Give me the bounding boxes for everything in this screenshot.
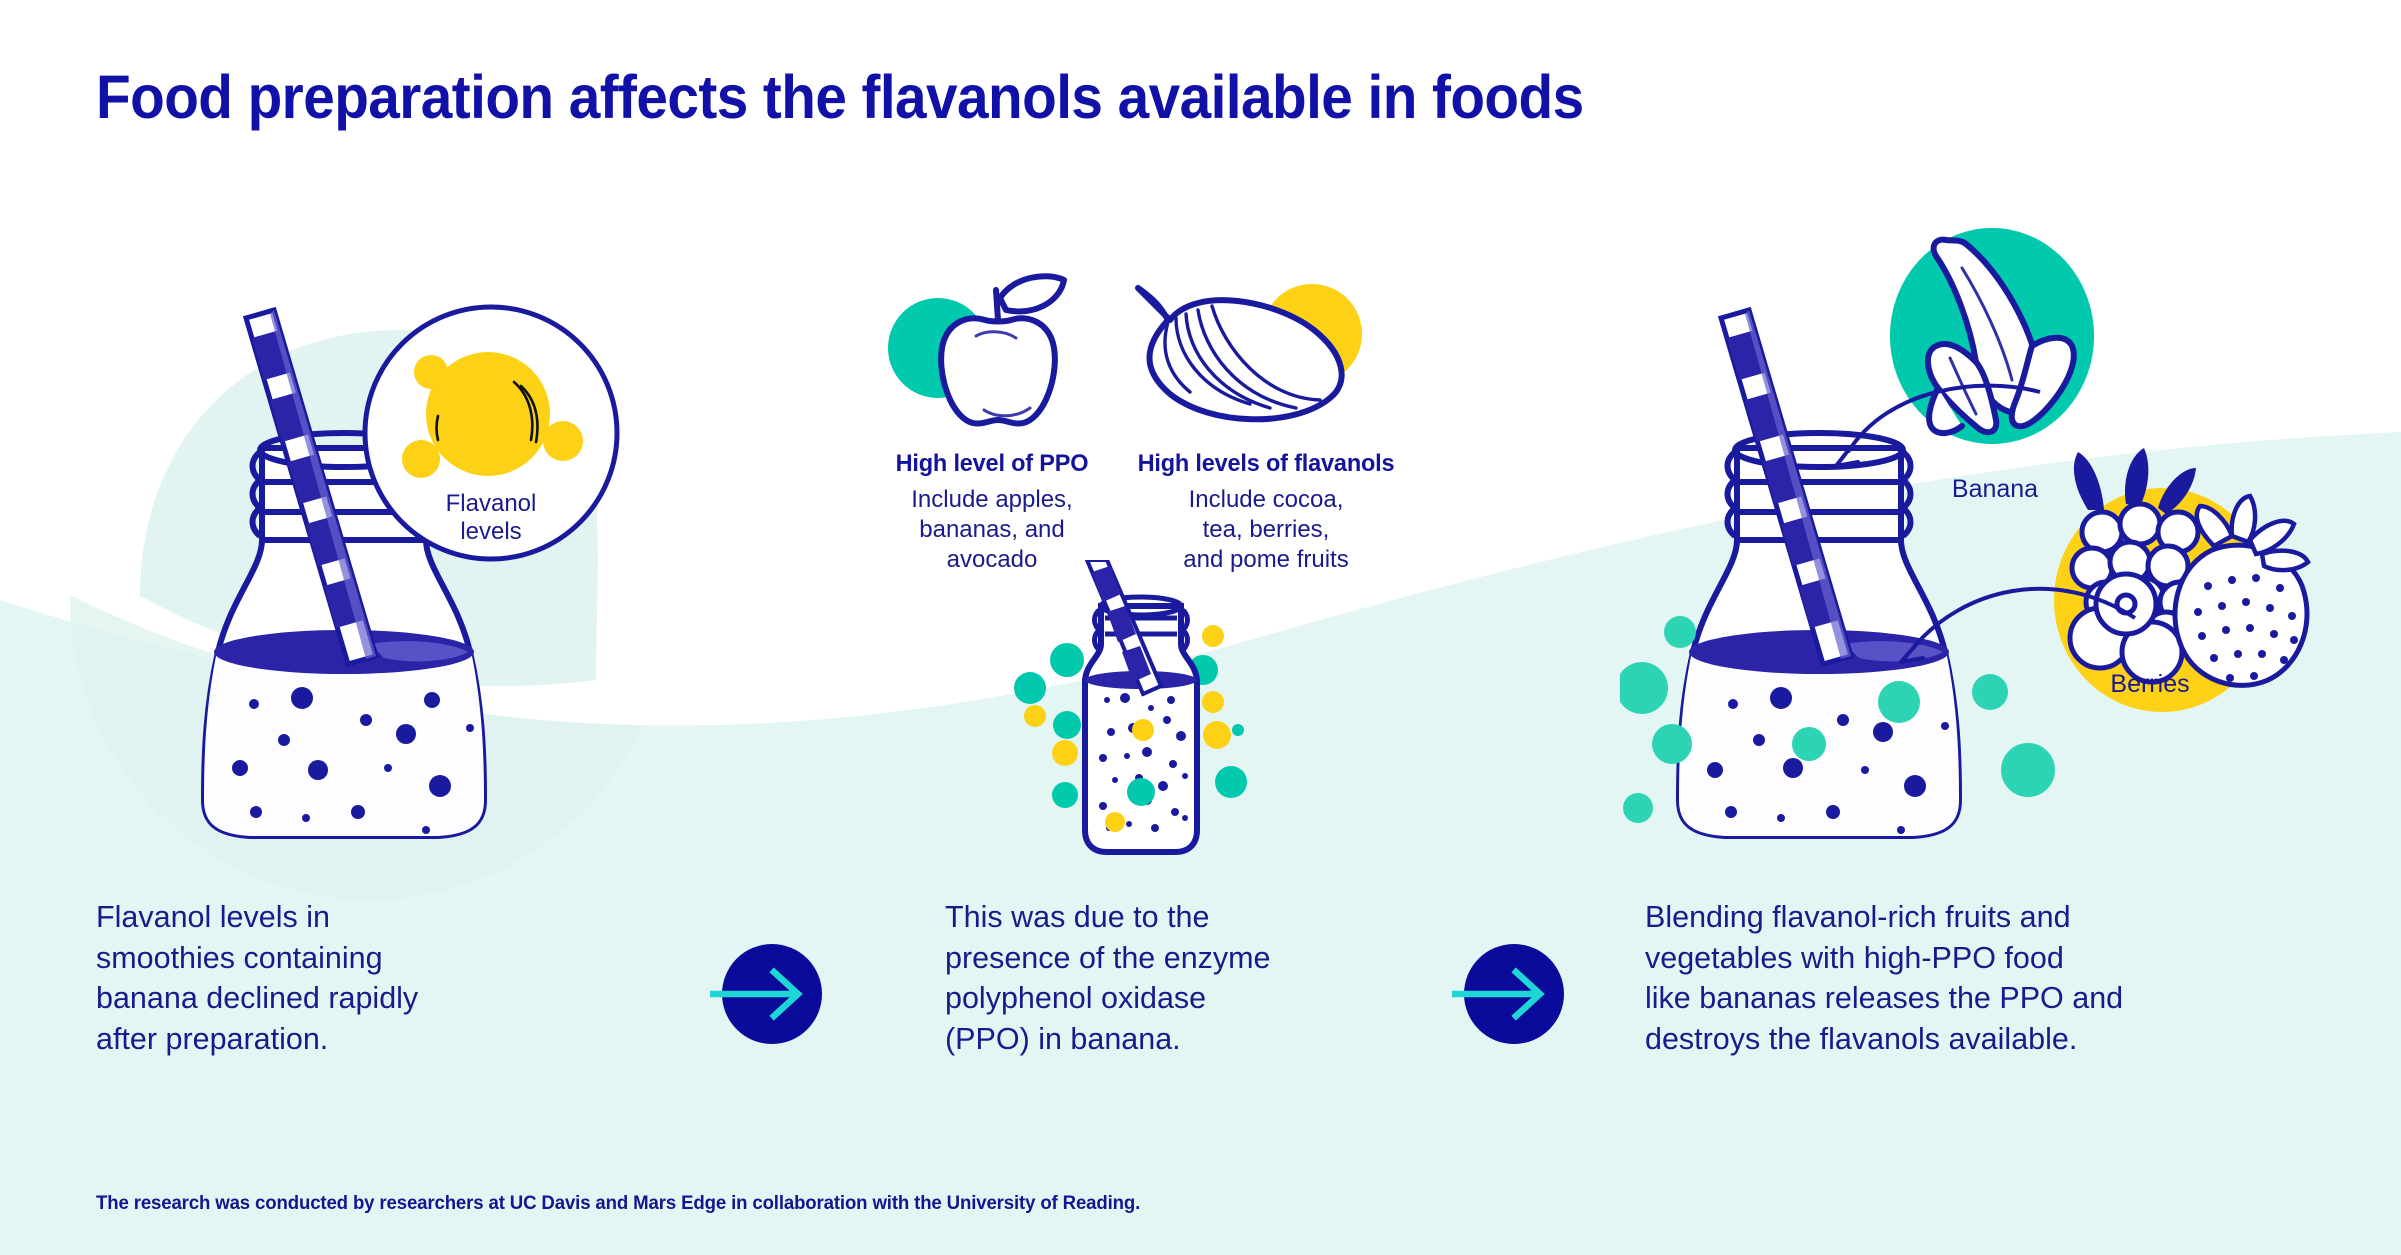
flav-line-1: Include cocoa,: [1116, 485, 1416, 515]
step-1-line-4: after preparation.: [96, 1019, 536, 1060]
step-1-text: Flavanol levels in smoothies containing …: [96, 897, 536, 1060]
icon-block-ppo: High level of PPO Include apples, banana…: [862, 450, 1122, 574]
flavanol-blob-small-1: [414, 355, 448, 389]
apple-icon: [880, 262, 1090, 442]
banana-to-bottle-arrow: [1800, 370, 2060, 500]
berries-to-bottle-arrow: [1855, 570, 2155, 700]
footer-attribution: The research was conducted by researcher…: [96, 1192, 1140, 1215]
arrow-right-icon: [1452, 944, 1576, 1044]
magnifier-flavanol-levels: Flavanol levels: [360, 302, 622, 564]
cocoa-pod-icon: [1124, 262, 1374, 442]
apple-body: [941, 318, 1055, 423]
step-2-line-3: polyphenol oxidase: [945, 978, 1385, 1019]
step-3-line-4: destroys the flavanols available.: [1645, 1019, 2245, 1060]
magnifier-label-line2: levels: [360, 518, 622, 546]
step-3-text: Blending flavanol-rich fruits and vegeta…: [1645, 897, 2245, 1060]
grape-stem-icon: [2074, 448, 2196, 514]
magnifier-label: Flavanol levels: [360, 490, 622, 546]
flavanol-blob-small-3: [543, 421, 583, 461]
step-1-line-2: smoothies containing: [96, 938, 536, 979]
step-arrow-1[interactable]: [722, 944, 822, 1044]
arrow-right-icon: [710, 944, 834, 1044]
apple-leaf: [1000, 276, 1064, 311]
ppo-line-1: Include apples,: [862, 485, 1122, 515]
step-3-line-2: vegetables with high-PPO food: [1645, 938, 2245, 979]
infographic-canvas: Food preparation affects the flavanols a…: [0, 0, 2401, 1255]
icon-block-ppo-title: High level of PPO: [867, 450, 1117, 478]
step-2-line-2: presence of the enzyme: [945, 938, 1385, 979]
step-2-line-4: (PPO) in banana.: [945, 1019, 1385, 1060]
apple-stem: [996, 290, 998, 320]
flavanol-blob-small-2: [402, 440, 440, 478]
step-arrow-2[interactable]: [1464, 944, 1564, 1044]
step-2-text: This was due to the presence of the enzy…: [945, 897, 1385, 1060]
step-1-line-1: Flavanol levels in: [96, 897, 536, 938]
icon-block-flavanols: High levels of flavanols Include cocoa, …: [1116, 450, 1416, 574]
flav-line-2: tea, berries,: [1116, 515, 1416, 545]
step-3-line-1: Blending flavanol-rich fruits and: [1645, 897, 2245, 938]
step-1-line-3: banana declined rapidly: [96, 978, 536, 1019]
step-2-line-1: This was due to the: [945, 897, 1385, 938]
bottle-middle: [995, 560, 1285, 860]
step-3-line-3: like bananas releases the PPO and: [1645, 978, 2245, 1019]
icon-block-flavanols-title: High levels of flavanols: [1122, 450, 1410, 478]
ppo-line-2: bananas, and: [862, 515, 1122, 545]
bottle-left-liquid: [204, 656, 484, 836]
magnifier-label-line1: Flavanol: [360, 490, 622, 518]
page-title: Food preparation affects the flavanols a…: [96, 62, 1584, 132]
